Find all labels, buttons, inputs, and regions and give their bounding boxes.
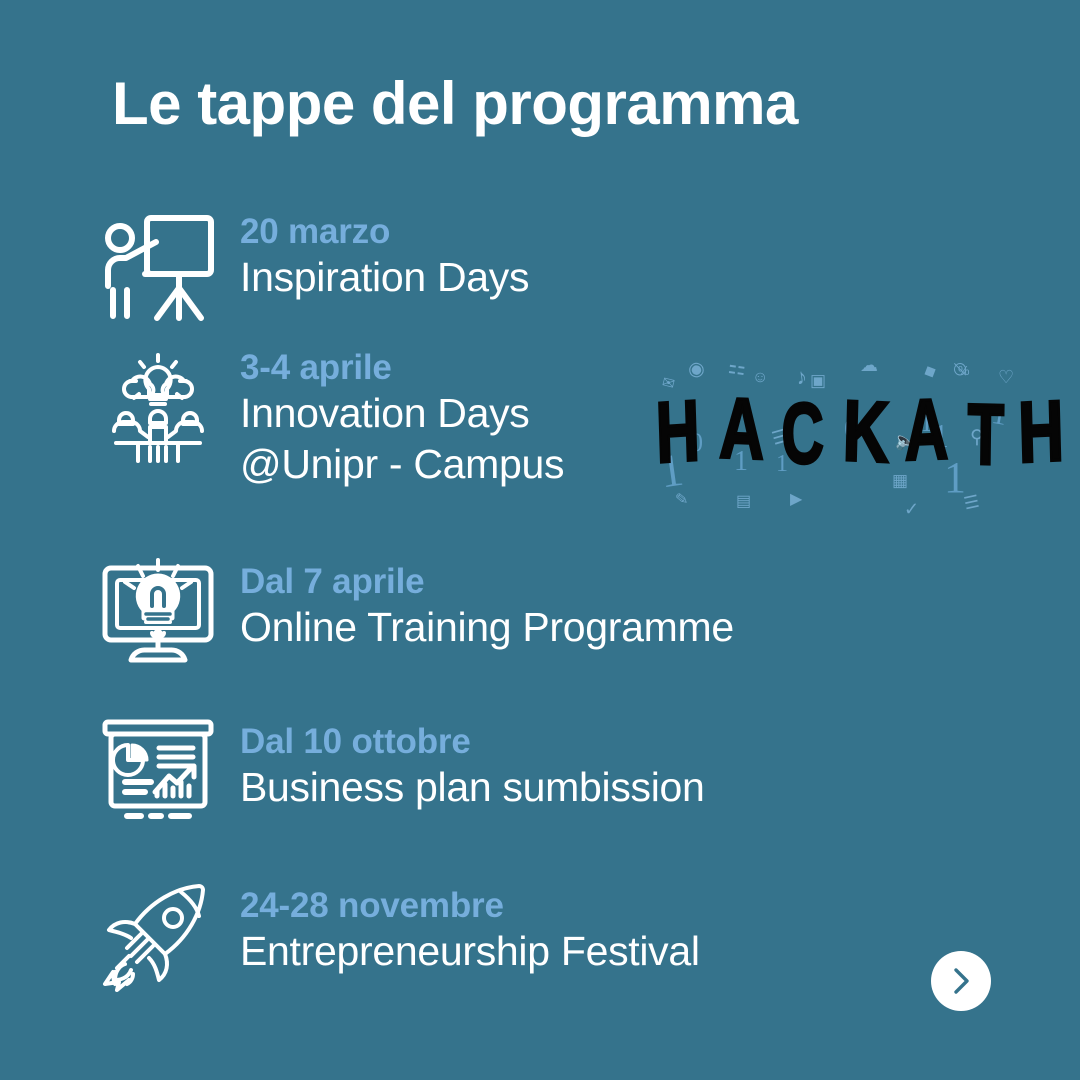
cloud-icon: ☁ bbox=[860, 356, 878, 374]
presentation-charts-icon bbox=[92, 708, 224, 836]
hackathon-letter: A bbox=[719, 388, 765, 471]
timeline-item-text: Dal 10 ottobre Business plan sumbission bbox=[224, 708, 705, 813]
hackathon-wordmark: HACKATHON bbox=[648, 392, 1038, 474]
timeline-item-innovation-days: 3-4 aprile Innovation Days @Unipr - Camp… bbox=[92, 348, 564, 490]
timeline-item-title: Inspiration Days bbox=[240, 252, 529, 303]
timeline-item-title: Entrepreneurship Festival bbox=[240, 926, 700, 977]
timeline-item-title: Online Training Programme bbox=[240, 602, 734, 653]
heart-icon: ♡ bbox=[998, 368, 1014, 386]
timeline-item-title: Innovation Days bbox=[240, 388, 564, 439]
timeline-item-subtitle: @Unipr - Campus bbox=[240, 439, 564, 490]
chevron-right-icon bbox=[948, 966, 974, 996]
timeline-item-date: 24-28 novembre bbox=[240, 886, 700, 926]
document-icon: ⚏ bbox=[727, 357, 748, 379]
next-button[interactable] bbox=[931, 951, 991, 1011]
timeline-item-inspiration-days: 20 marzo Inspiration Days bbox=[92, 204, 529, 332]
timeline-item-business-plan: Dal 10 ottobre Business plan sumbission bbox=[92, 708, 705, 836]
timeline-item-title: Business plan sumbission bbox=[240, 762, 705, 813]
timeline-item-text: Dal 7 aprile Online Training Programme bbox=[224, 548, 734, 653]
timeline-item-text: 24-28 novembre Entrepreneurship Festival bbox=[224, 872, 700, 977]
hackathon-letter: A bbox=[904, 389, 949, 472]
percent-icon: % bbox=[958, 364, 970, 377]
tag-icon: ◆ bbox=[921, 362, 939, 382]
presenter-whiteboard-icon bbox=[92, 204, 224, 332]
timeline-item-text: 3-4 aprile Innovation Days @Unipr - Camp… bbox=[224, 348, 564, 490]
timeline-item-date: 20 marzo bbox=[240, 212, 529, 252]
rocket-icon bbox=[92, 872, 224, 1000]
page-title: Le tappe del programma bbox=[112, 72, 798, 135]
hackathon-letter: H bbox=[655, 391, 701, 475]
timeline-item-online-training: Dal 7 aprile Online Training Programme bbox=[92, 548, 734, 676]
globe-icon: ◉ bbox=[686, 358, 706, 380]
timeline-item-entrepreneurship-festival: 24-28 novembre Entrepreneurship Festival bbox=[92, 872, 700, 1000]
hackathon-letter: H bbox=[1017, 391, 1064, 475]
timeline-item-date: 3-4 aprile bbox=[240, 348, 564, 388]
hackathon-letter: C bbox=[781, 393, 824, 476]
hackathon-letter: T bbox=[967, 395, 1004, 478]
hackathon-letter: K bbox=[842, 391, 890, 475]
check-icon: ✓ bbox=[904, 500, 919, 518]
slide-canvas: Le tappe del programma ◉ ✉ ⚏ ☺ ♪ ▣ ☁ ◆ ⍉… bbox=[0, 0, 1080, 1080]
play-icon: ▶ bbox=[790, 492, 802, 508]
timeline-item-date: Dal 10 ottobre bbox=[240, 722, 705, 762]
monitor-lightbulb-icon bbox=[92, 548, 224, 676]
hackathon-graphic: ◉ ✉ ⚏ ☺ ♪ ▣ ☁ ◆ ⍉ % ♡ ☰ 🔈 ⚲ ▦ ▶ ✏ ▤ ✓ ☰ … bbox=[648, 352, 1038, 524]
team-brainstorm-icon bbox=[92, 348, 224, 476]
at-icon: ▤ bbox=[736, 494, 751, 510]
timeline-item-date: Dal 7 aprile bbox=[240, 562, 734, 602]
timeline-item-text: 20 marzo Inspiration Days bbox=[224, 204, 529, 303]
